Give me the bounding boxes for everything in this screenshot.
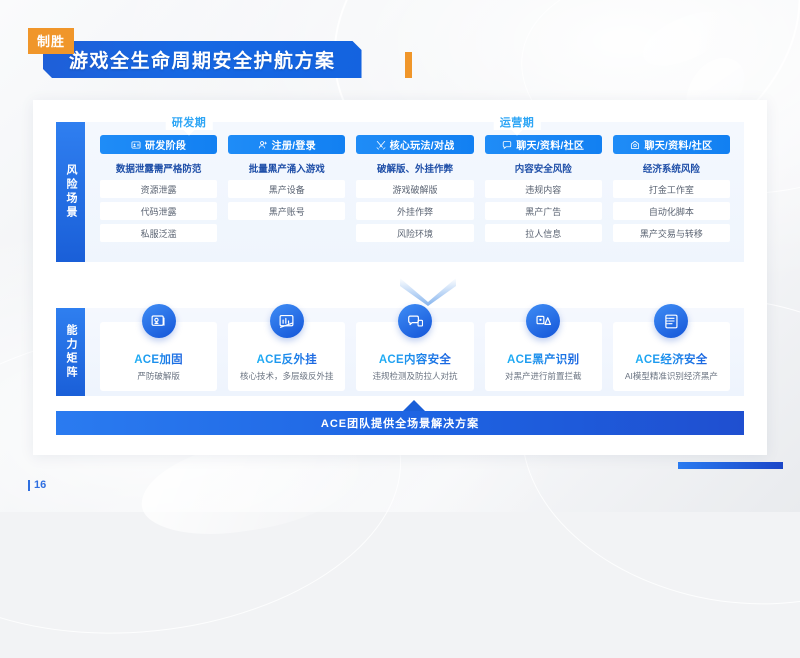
capability-card-icon-circle <box>526 304 560 338</box>
down-chevron-icon <box>400 278 456 306</box>
risk-cell[interactable]: 代码泄露 <box>100 202 217 220</box>
risk-scenario-section: 风险场景 研发阶段 数据泄露需严格防范 资源泄露 代码泄露 私服泛滥 <box>56 122 744 262</box>
risk-cell[interactable]: 游戏破解版 <box>356 180 473 198</box>
risk-column[interactable]: 聊天/资料/社区 内容安全风险 违规内容 黑产广告 拉人信息 <box>485 135 602 246</box>
capability-card-desc: 核心技术，多层级反外挂 <box>240 370 334 382</box>
chat-shield-icon <box>407 313 424 330</box>
shield-lock-icon <box>150 313 167 330</box>
risk-column-subtitle: 经济系统风险 <box>613 161 730 175</box>
risk-column[interactable]: 注册/登录 批量黑产涌入游戏 黑产设备 黑产账号 <box>228 135 345 246</box>
capability-card[interactable]: ACE经济安全 AI模型精准识别经济黑产 <box>613 322 730 391</box>
capability-card-name: ACE经济安全 <box>635 351 707 367</box>
capability-side-label: 能力矩阵 <box>56 308 85 396</box>
capability-card[interactable]: ACE黑产识别 对黑产进行前置拦截 <box>485 322 602 391</box>
risk-column-subtitle: 内容安全风险 <box>485 161 602 175</box>
risk-column-subtitle: 数据泄露需严格防范 <box>100 161 217 175</box>
risk-column-header-text: 研发阶段 <box>145 137 186 152</box>
capability-card[interactable]: ACE内容安全 违规检测及防拉人对抗 <box>356 322 473 391</box>
capability-card-name: ACE内容安全 <box>379 351 451 367</box>
capability-card[interactable]: ACE反外挂 核心技术，多层级反外挂 <box>228 322 345 391</box>
risk-column-header[interactable]: 聊天/资料/社区 <box>485 135 602 154</box>
footer-banner-text: ACE团队提供全场景解决方案 <box>321 415 479 431</box>
risk-column[interactable]: 核心玩法/对战 破解版、外挂作弊 游戏破解版 外挂作弊 风险环境 <box>356 135 473 246</box>
user-add-icon <box>258 140 268 150</box>
risk-column-header-text: 聊天/资料/社区 <box>516 137 584 152</box>
risk-column-header[interactable]: 研发阶段 <box>100 135 217 154</box>
ledger-icon <box>663 313 680 330</box>
risk-scenario-side-label-text: 风险场景 <box>63 164 78 220</box>
up-arrow-icon <box>403 400 425 411</box>
page-number-text: 16 <box>34 479 46 491</box>
period-operation-label: 运营期 <box>494 114 541 130</box>
risk-cell[interactable]: 黑产账号 <box>228 202 345 220</box>
risk-column-header-text: 聊天/资料/社区 <box>644 137 712 152</box>
chat-bubble-icon <box>502 140 512 150</box>
capability-card-list: ACE加固 严防破解版 ACE反外挂 核心技术，多层级反外挂 <box>100 322 730 391</box>
risk-column-list: 研发阶段 数据泄露需严格防范 资源泄露 代码泄露 私服泛滥 注册/登录 批量黑产… <box>100 135 730 246</box>
risk-cell[interactable]: 打金工作室 <box>613 180 730 198</box>
risk-scenario-side-label: 风险场景 <box>56 122 85 262</box>
capability-card-icon-circle <box>654 304 688 338</box>
capability-card-desc: 严防破解版 <box>137 370 180 382</box>
capability-card-name: ACE反外挂 <box>257 351 318 367</box>
risk-column-header[interactable]: 聊天/资料/社区 <box>613 135 730 154</box>
bottom-accent-bar <box>678 462 783 469</box>
capability-matrix-section: 能力矩阵 ACE加固 严防破解版 <box>56 308 744 396</box>
swords-icon <box>376 140 386 150</box>
risk-cell[interactable]: 黑产交易与转移 <box>613 224 730 242</box>
period-research-label: 研发期 <box>166 114 213 130</box>
capability-card[interactable]: ACE加固 严防破解版 <box>100 322 217 391</box>
risk-cell[interactable]: 黑产广告 <box>485 202 602 220</box>
risk-column-header-text: 核心玩法/对战 <box>390 137 455 152</box>
slide-tag-badge: 制胜 <box>28 28 74 54</box>
risk-column-header-text: 注册/登录 <box>272 137 316 152</box>
coin-house-icon <box>630 140 640 150</box>
risk-column-subtitle: 破解版、外挂作弊 <box>356 161 473 175</box>
risk-cell[interactable]: 风险环境 <box>356 224 473 242</box>
capability-card-icon-circle <box>142 304 176 338</box>
risk-column[interactable]: 研发阶段 数据泄露需严格防范 资源泄露 代码泄露 私服泛滥 <box>100 135 217 246</box>
risk-column-subtitle: 批量黑产涌入游戏 <box>228 161 345 175</box>
capability-card-desc: 违规检测及防拉人对抗 <box>373 370 458 382</box>
risk-cell[interactable]: 资源泄露 <box>100 180 217 198</box>
radar-scan-icon <box>278 313 295 330</box>
slide-title-text: 游戏全生命周期安全护航方案 <box>69 46 336 73</box>
bot-detect-icon <box>535 313 552 330</box>
capability-side-label-text: 能力矩阵 <box>63 324 78 380</box>
capability-card-desc: 对黑产进行前置拦截 <box>505 370 582 382</box>
risk-cell[interactable]: 自动化脚本 <box>613 202 730 220</box>
slide-title: 游戏全生命周期安全护航方案 <box>43 41 362 78</box>
id-card-icon <box>131 140 141 150</box>
capability-card-name: ACE加固 <box>134 351 183 367</box>
capability-card-desc: AI模型精准识别经济黑产 <box>625 370 718 382</box>
risk-cell[interactable]: 违规内容 <box>485 180 602 198</box>
capability-card-name: ACE黑产识别 <box>507 351 579 367</box>
footer-banner: ACE团队提供全场景解决方案 <box>56 411 744 435</box>
risk-cell[interactable]: 拉人信息 <box>485 224 602 242</box>
page-number: 16 <box>28 479 46 491</box>
risk-cell[interactable]: 外挂作弊 <box>356 202 473 220</box>
risk-cell[interactable]: 私服泛滥 <box>100 224 217 242</box>
page-number-tick <box>28 480 30 491</box>
risk-column-header[interactable]: 核心玩法/对战 <box>356 135 473 154</box>
title-accent-bar <box>405 52 412 78</box>
risk-cell[interactable]: 黑产设备 <box>228 180 345 198</box>
risk-column[interactable]: 聊天/资料/社区 经济系统风险 打金工作室 自动化脚本 黑产交易与转移 <box>613 135 730 246</box>
content-card: 研发期 运营期 风险场景 研发阶段 <box>33 100 767 455</box>
risk-column-header[interactable]: 注册/登录 <box>228 135 345 154</box>
capability-card-icon-circle <box>398 304 432 338</box>
capability-card-icon-circle <box>270 304 304 338</box>
